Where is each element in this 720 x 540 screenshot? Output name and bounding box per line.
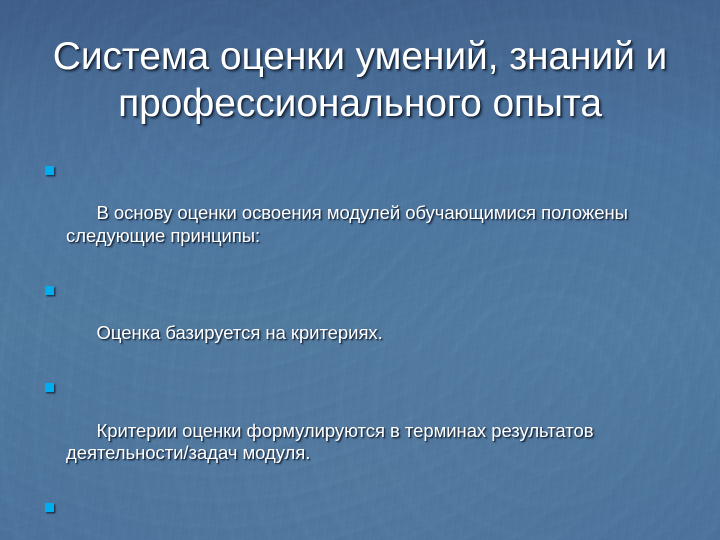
list-item-text: Критерии оценки формулируются в терминах… — [66, 420, 599, 464]
list-item: При оценке учитываются представленные св… — [44, 494, 688, 540]
square-bullet-icon — [45, 503, 54, 512]
slide-title: Система оценки умений, знаний и професси… — [28, 33, 692, 127]
square-bullet-icon — [45, 383, 54, 392]
square-bullet-icon — [45, 166, 54, 175]
list-item: Критерии оценки формулируются в терминах… — [44, 374, 688, 487]
list-item: Оценка базируется на критериях. — [44, 277, 688, 367]
bullet-list: В основу оценки освоения модулей обучающ… — [44, 157, 688, 540]
list-item-text: Оценка базируется на критериях. — [97, 322, 383, 343]
list-item-text: В основу оценки освоения модулей обучающ… — [66, 202, 633, 246]
list-item: В основу оценки освоения модулей обучающ… — [44, 157, 688, 270]
square-bullet-icon — [45, 286, 54, 295]
presentation-slide: Система оценки умений, знаний и професси… — [0, 0, 720, 540]
